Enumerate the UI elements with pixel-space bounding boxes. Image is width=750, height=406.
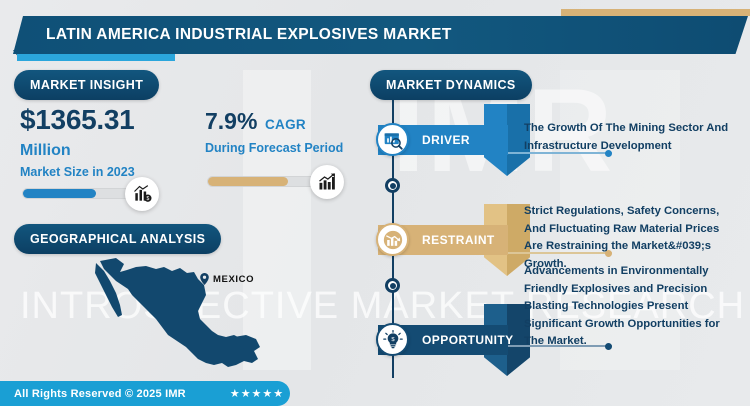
market-size-unit: Million — [20, 142, 71, 160]
timeline-node — [385, 178, 400, 193]
cagr-progress-fill — [208, 177, 288, 186]
market-size-value: $1365.31 — [20, 104, 134, 136]
timeline-node — [385, 278, 400, 293]
header-gold-accent — [561, 9, 750, 16]
header-underline-accent — [17, 54, 175, 61]
market-size-progress-fill — [23, 189, 96, 198]
lightbulb-icon: $ — [376, 323, 409, 356]
location-pin-icon — [200, 273, 209, 285]
restraint-label: RESTRAINT — [422, 233, 495, 247]
driver-label: DRIVER — [422, 133, 470, 147]
market-size-subtitle: Market Size in 2023 — [20, 165, 135, 179]
market-insight-pill: MARKET INSIGHT — [14, 70, 159, 100]
growth-chart-icon — [310, 165, 344, 199]
infographic-canvas: IMR INTROSPECTIVE MARKET RESEARCH LATIN … — [0, 0, 750, 406]
analysis-magnifier-icon — [376, 123, 409, 156]
rating-stars: ★★★★★ — [230, 387, 284, 400]
header-bar: LATIN AMERICA INDUSTRIAL EXPLOSIVES MARK… — [13, 16, 748, 54]
svg-text:$: $ — [146, 196, 149, 202]
cagr-subtitle: During Forecast Period — [205, 141, 343, 155]
cagr-value: 7.9% — [205, 108, 257, 135]
page-title: LATIN AMERICA INDUSTRIAL EXPLOSIVES MARK… — [46, 26, 452, 44]
footer-bar: All Rights Reserved © 2025 IMR ★★★★★ — [0, 381, 290, 406]
geographical-analysis-pill: GEOGRAPHICAL ANALYSIS — [14, 224, 221, 254]
dollar-bar-chart-icon: $ — [125, 177, 159, 211]
market-dynamics-pill: MARKET DYNAMICS — [370, 70, 532, 100]
opportunity-label: OPPORTUNITY — [422, 333, 514, 347]
copyright-text: All Rights Reserved © 2025 IMR — [14, 388, 186, 400]
driver-description: The Growth Of The Mining Sector And Infr… — [524, 120, 729, 155]
opportunity-description: Advancements in Environmentally Friendly… — [524, 263, 729, 351]
cagr-label: CAGR — [265, 117, 306, 132]
declining-bar-chart-icon — [376, 223, 409, 256]
mexico-label: MEXICO — [213, 274, 254, 285]
mexico-pin: MEXICO — [200, 273, 254, 285]
